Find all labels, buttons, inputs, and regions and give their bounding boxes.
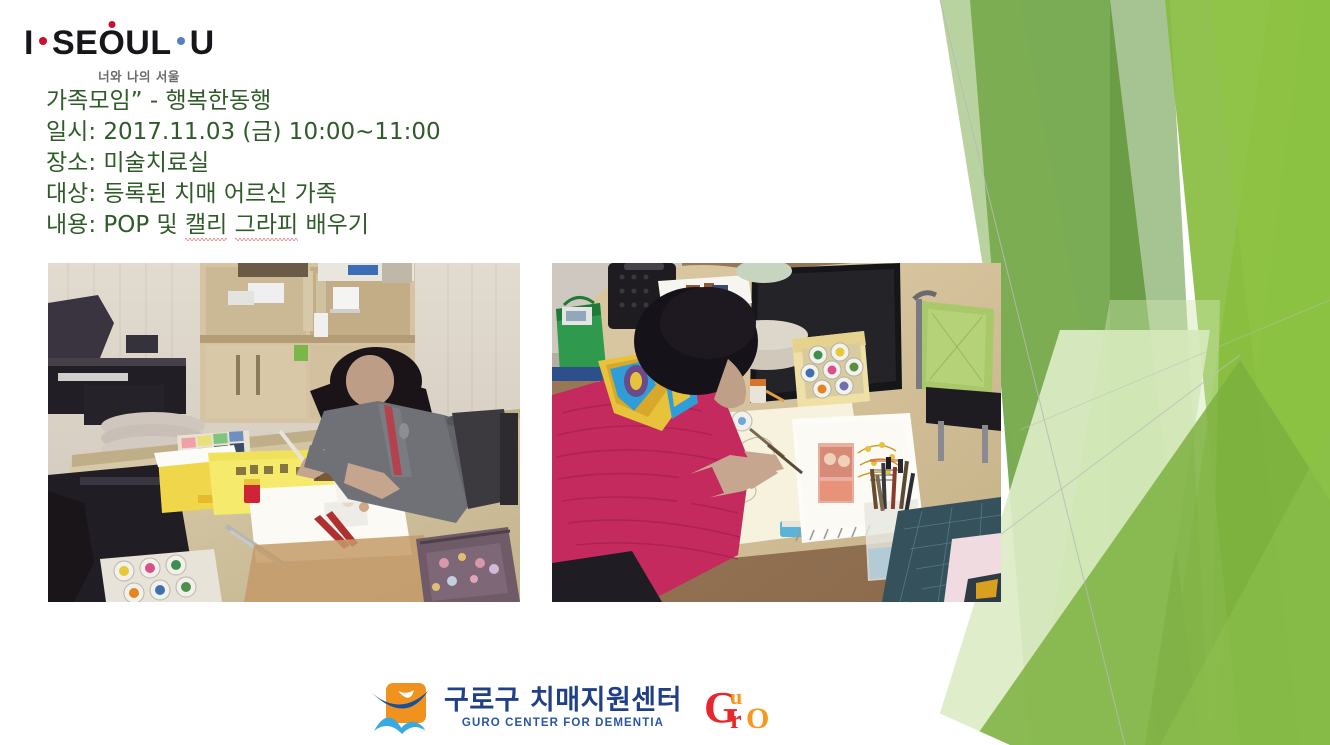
seoul-blue-dot-icon xyxy=(177,37,185,45)
seoul-letters-ul: UL xyxy=(125,26,171,60)
slide-canvas: I SE O UL U 너와 나의 서울 가족모임” - 행복한동행 일시: 2… xyxy=(0,0,1330,745)
event-content-suffix: 배우기 xyxy=(298,212,369,238)
footer-logo-group: 구로구 치매지원센터 GURO CENTER FOR DEMENTIA G u … xyxy=(372,681,776,735)
event-audience-line: 대상: 등록된 치매 어르신 가족 xyxy=(46,179,666,210)
event-place-label: 장소: xyxy=(46,150,96,176)
event-place-line: 장소: 미술치료실 xyxy=(46,148,666,179)
guro-brand-letters: G u r O xyxy=(704,682,776,734)
spellcheck-word-calligraphy-2: 그라피 xyxy=(235,212,298,241)
seoul-red-dot-icon xyxy=(39,37,47,45)
event-datetime-label: 일시: xyxy=(46,119,96,145)
event-audience-label: 대상: xyxy=(46,181,96,207)
i-seoul-u-logo: I SE O UL U 너와 나의 서울 xyxy=(24,24,254,80)
event-content-label: 내용: xyxy=(46,212,96,238)
event-info-block: 가족모임” - 행복한동행 일시: 2017.11.03 (금) 10:00~1… xyxy=(46,86,666,241)
spellcheck-word-calligraphy-1: 캘리 xyxy=(185,212,227,241)
event-content-gap xyxy=(227,212,234,238)
svg-text:O: O xyxy=(746,702,769,734)
guro-center-emblem xyxy=(372,681,430,735)
event-datetime-line: 일시: 2017.11.03 (금) 10:00~11:00 xyxy=(46,117,666,148)
seoul-letter-i: I xyxy=(24,26,34,60)
event-content-line: 내용: POP 및 캘리 그라피 배우기 xyxy=(46,210,666,241)
event-title: 가족모임” - 행복한동행 xyxy=(46,86,666,117)
guro-center-name-en: GURO CENTER FOR DEMENTIA xyxy=(444,717,682,729)
seoul-o-accent-dot-icon xyxy=(108,21,115,28)
seoul-wordmark: I SE O UL U xyxy=(24,24,254,62)
photo-right-render xyxy=(552,263,1001,602)
seoul-letter-o-wrap: O xyxy=(98,26,125,60)
photo-left-render xyxy=(48,263,520,602)
event-audience-value: 등록된 치매 어르신 가족 xyxy=(103,181,337,207)
guro-brand-logo: G u r O xyxy=(704,682,776,734)
event-content-prefix: POP 및 xyxy=(103,212,185,238)
guro-center-name-block: 구로구 치매지원센터 GURO CENTER FOR DEMENTIA xyxy=(444,687,682,729)
photo-art-therapy-left xyxy=(48,263,520,602)
seoul-logo-subtitle: 너와 나의 서울 xyxy=(24,66,254,85)
guro-center-name-kr: 구로구 치매지원센터 xyxy=(444,687,682,715)
svg-text:r: r xyxy=(730,705,742,734)
seoul-letter-o: O xyxy=(98,26,125,60)
seoul-letter-u: U xyxy=(190,26,215,60)
seoul-letters-se: SE xyxy=(52,26,98,60)
event-datetime-value: 2017.11.03 (금) 10:00~11:00 xyxy=(103,119,440,145)
guro-emblem-shapes xyxy=(372,681,430,735)
photo-art-therapy-right xyxy=(552,263,1001,602)
event-place-value: 미술치료실 xyxy=(103,150,209,176)
